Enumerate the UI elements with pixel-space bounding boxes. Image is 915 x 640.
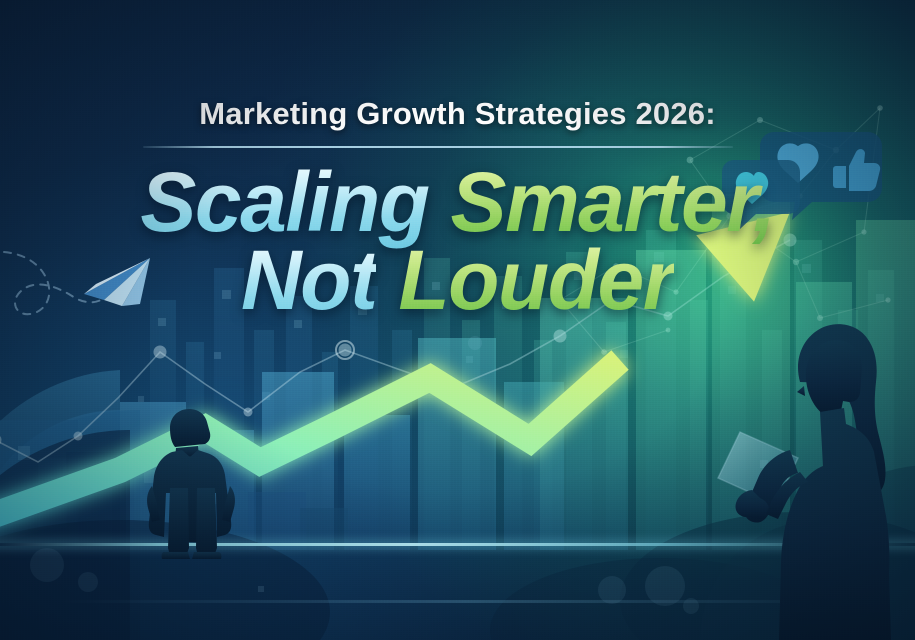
headline-word-not: Not [241,233,376,327]
headline-word-louder: Louder [398,233,674,327]
headline-line-1: Scaling Smarter, [0,160,915,244]
poster-canvas: Marketing Growth Strategies 2026: Scalin… [0,0,915,640]
page-title: Marketing Growth Strategies 2026: [0,96,915,132]
headline-line-2: Not Louder [0,238,915,322]
title-underline [143,146,733,148]
